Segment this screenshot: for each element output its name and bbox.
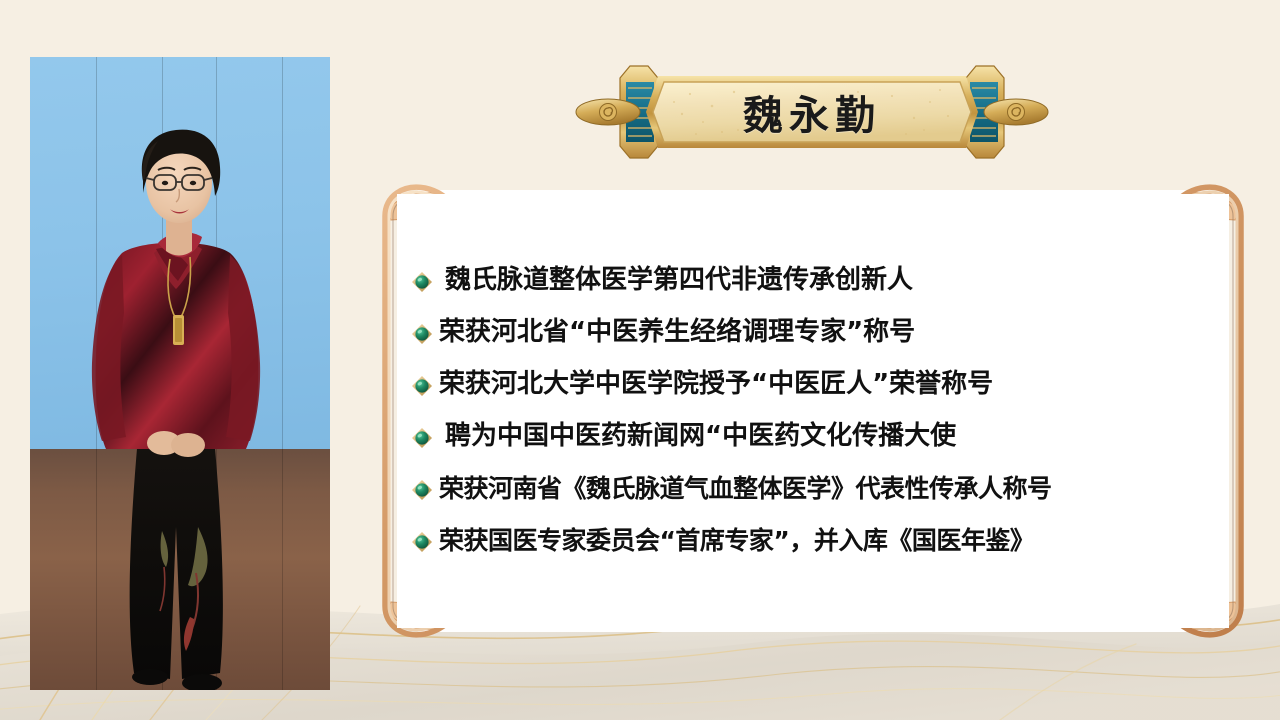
green-gem-icon: [411, 323, 433, 345]
list-item: 魏氏脉道整体医学第四代非遗传承创新人: [411, 257, 1223, 305]
list-item: 荣获河南省《魏氏脉道气血整体医学》代表性传承人称号: [411, 465, 1223, 513]
green-gem-icon: [411, 531, 433, 553]
list-item-text: 荣获河南省《魏氏脉道气血整体医学》代表性传承人称号: [439, 475, 1052, 504]
portrait-photo: [30, 57, 330, 690]
green-gem-icon: [411, 479, 433, 501]
list-item: 荣获河北省“中医养生经络调理专家”称号: [411, 309, 1223, 357]
list-item-text: 魏氏脉道整体医学第四代非遗传承创新人: [439, 266, 913, 296]
list-item: 聘为中国中医药新闻网“中医药文化传播大使: [411, 413, 1223, 461]
list-item-text: 聘为中国中医药新闻网“中医药文化传播大使: [439, 422, 956, 452]
portrait-figure: [30, 57, 330, 690]
page-title: 魏永勤: [562, 58, 1062, 166]
credentials-list: 魏氏脉道整体医学第四代非遗传承创新人 荣获河北省“中医养生经络调理专家”称号: [397, 194, 1229, 628]
list-item: 荣获河北大学中医学院授予“中医匠人”荣誉称号: [411, 361, 1223, 409]
green-gem-icon: [411, 271, 433, 293]
list-item-text: 荣获河北大学中医学院授予“中医匠人”荣誉称号: [439, 370, 993, 400]
green-gem-icon: [411, 375, 433, 397]
list-item-text: 荣获河北省“中医养生经络调理专家”称号: [439, 318, 915, 348]
title-plaque: 魏永勤: [562, 58, 1062, 166]
slide-canvas: 魏永勤: [0, 0, 1280, 720]
list-item: 荣获国医专家委员会“首席专家”，并入库《国医年鉴》: [411, 517, 1223, 565]
list-item-text: 荣获国医专家委员会“首席专家”，并入库《国医年鉴》: [439, 527, 1034, 556]
green-gem-icon: [411, 427, 433, 449]
credentials-panel: 魏氏脉道整体医学第四代非遗传承创新人 荣获河北省“中医养生经络调理专家”称号: [381, 176, 1245, 646]
